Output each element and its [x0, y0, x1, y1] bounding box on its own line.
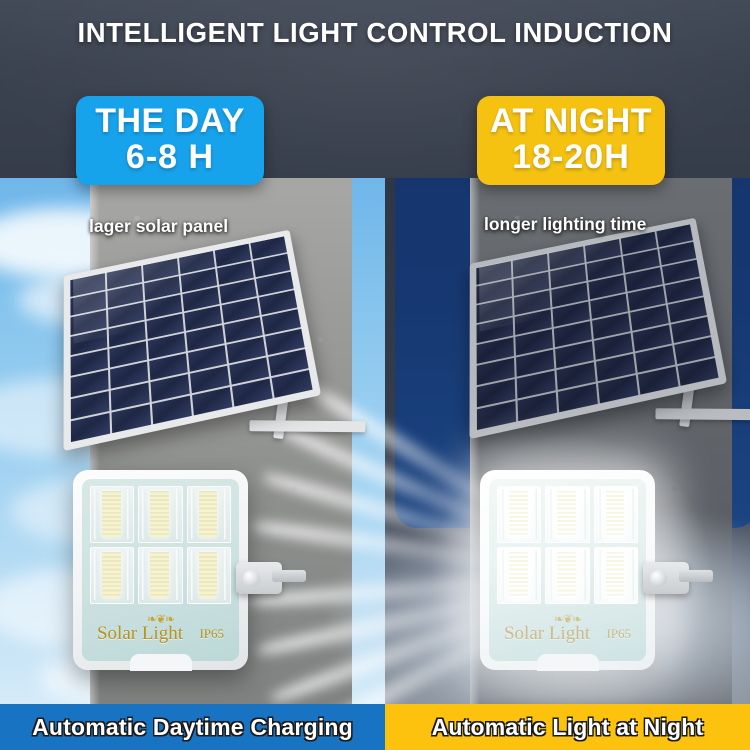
led-module [90, 486, 134, 543]
badge-night-line1: AT NIGHT [477, 103, 665, 139]
lamp-wall-arm [679, 570, 713, 582]
led-module [138, 547, 182, 604]
badge-night-line2: 18-20H [477, 139, 665, 175]
led-module-grid [90, 486, 231, 604]
badge-night: AT NIGHT 18-20H [477, 96, 665, 185]
floodlight-day: ❧❦❧ Solar Light IP65 [73, 470, 248, 670]
led-module [138, 486, 182, 543]
badge-day-line1: THE DAY [76, 103, 264, 139]
lamp-wall-arm [272, 570, 306, 582]
led-module [545, 486, 589, 543]
badge-day-line2: 6-8 H [76, 139, 264, 175]
footer-bar-day: Automatic Daytime Charging [0, 704, 385, 750]
badge-day: THE DAY 6-8 H [76, 96, 264, 185]
lamp-adjust-knob [650, 570, 667, 587]
led-module [187, 547, 231, 604]
led-module [594, 547, 638, 604]
product-marketing-image: INTELLIGENT LIGHT CONTROL INDUCTION [0, 0, 750, 750]
floodlight-face: ❧❦❧ Solar Light IP65 [489, 479, 646, 661]
caption-night: longer lighting time [484, 214, 646, 235]
solar-panel-night [458, 213, 724, 428]
ornament-flourish: ❧❦❧ [82, 615, 239, 623]
led-module [545, 547, 589, 604]
lamp-adjust-knob [243, 570, 260, 587]
panel-bracket-base [249, 420, 365, 432]
lamp-bottom-notch [130, 654, 192, 671]
floodlight-night: ❧❦❧ Solar Light IP65 [480, 470, 655, 670]
footer-label-night: Automatic Light at Night [432, 714, 704, 741]
led-module [187, 486, 231, 543]
led-module [594, 486, 638, 543]
led-module [497, 486, 541, 543]
footer-bars: Automatic Daytime Charging Automatic Lig… [0, 704, 750, 750]
page-title: INTELLIGENT LIGHT CONTROL INDUCTION [0, 17, 750, 49]
lamp-ip-rating: IP65 [199, 626, 224, 642]
led-module-grid [497, 486, 638, 604]
lamp-brand-text: Solar Light [97, 623, 183, 645]
lamp-brand-text: Solar Light [504, 623, 590, 645]
ornament-flourish: ❧❦❧ [489, 615, 646, 623]
lamp-branding: ❧❦❧ Solar Light IP65 [82, 615, 239, 645]
lamp-bottom-notch [537, 654, 599, 671]
floodlight-face: ❧❦❧ Solar Light IP65 [82, 479, 239, 661]
caption-day: lager solar panel [89, 216, 228, 237]
lamp-ip-rating: IP65 [606, 626, 631, 642]
led-module [497, 547, 541, 604]
scene: ❧❦❧ Solar Light IP65 [0, 178, 750, 704]
panel-bracket-base [655, 408, 750, 420]
solar-panel-day [52, 225, 318, 440]
lamp-branding: ❧❦❧ Solar Light IP65 [489, 615, 646, 645]
footer-label-day: Automatic Daytime Charging [32, 714, 353, 741]
footer-bar-night: Automatic Light at Night [385, 704, 750, 750]
led-module [90, 547, 134, 604]
